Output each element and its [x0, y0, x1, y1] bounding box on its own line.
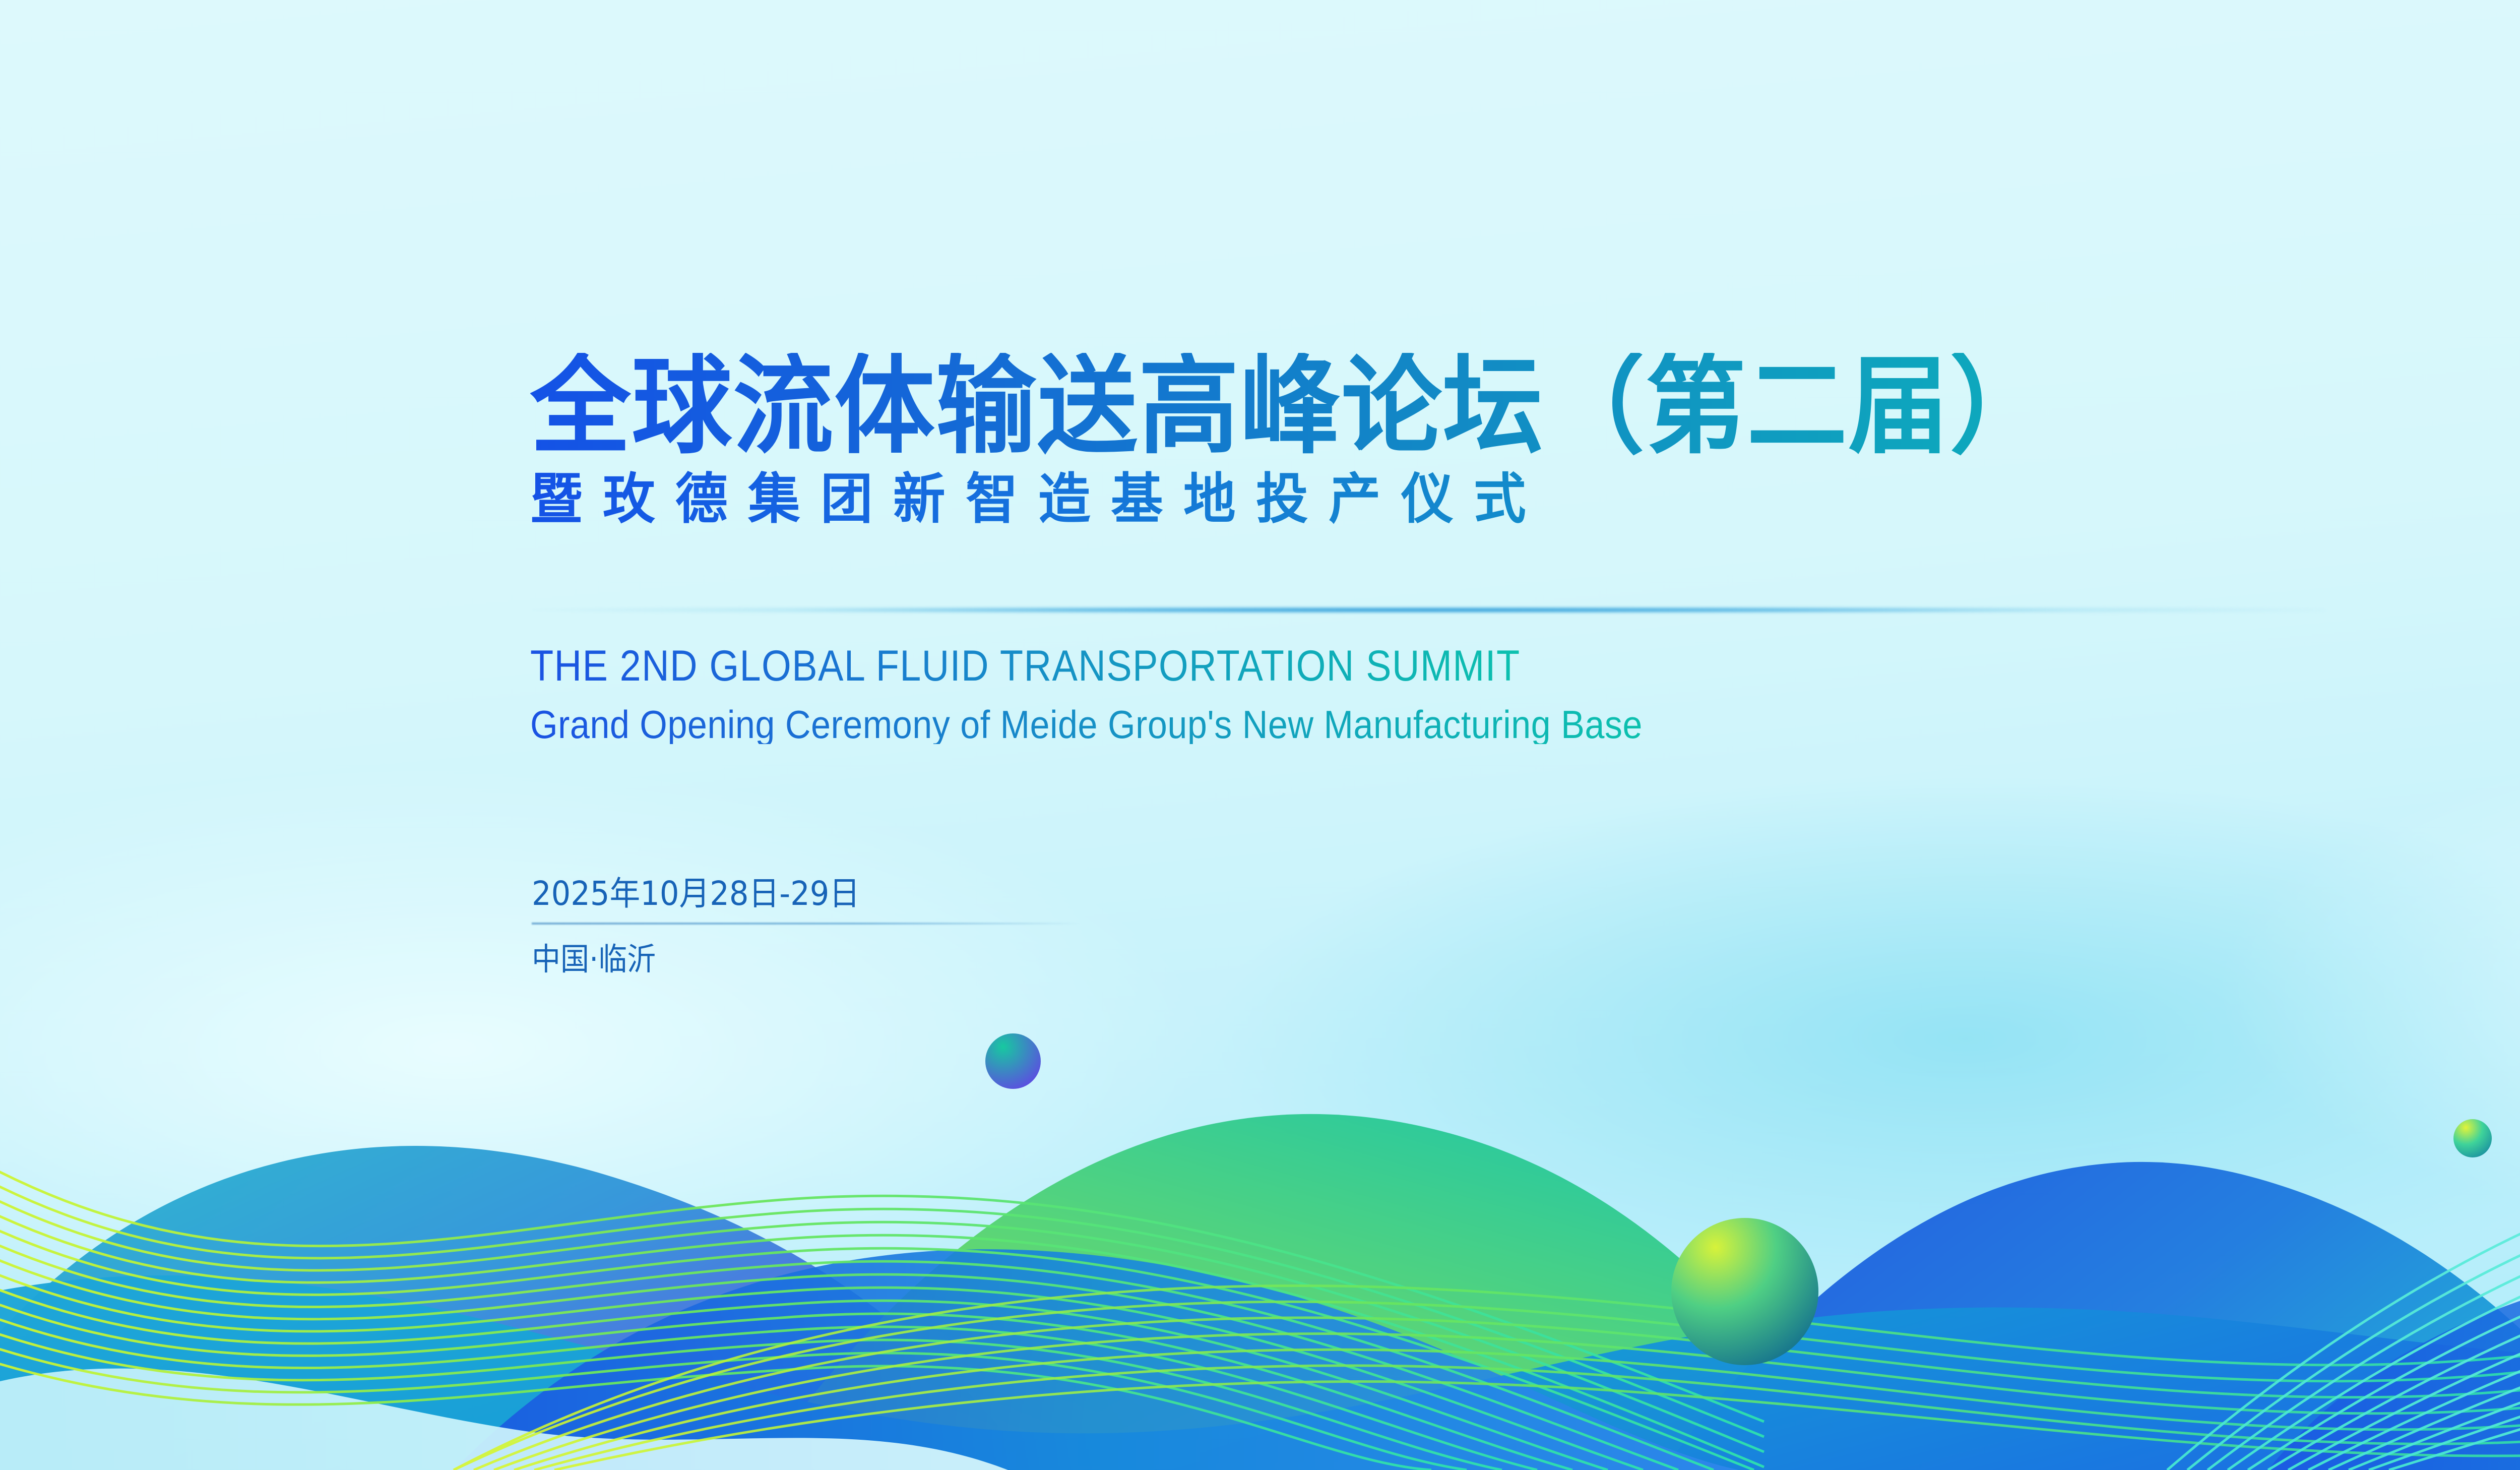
headline-block: 全球流体输送高峰论坛（第二届） 暨玫德集团新智造基地投产仪式: [530, 353, 2520, 528]
event-location: 中国·临沂: [532, 944, 656, 975]
poster-canvas: 全球流体输送高峰论坛（第二届） 暨玫德集团新智造基地投产仪式 THE 2ND G…: [0, 0, 2520, 1470]
sphere-large-green: [1671, 1218, 1818, 1365]
sphere-tiny-green: [2453, 1119, 2492, 1157]
title-english-main: THE 2ND GLOBAL FLUID TRANSPORTATION SUMM…: [530, 644, 1521, 688]
event-date: 2025年10月28日-29日: [532, 877, 860, 910]
meta-divider: [532, 923, 1081, 925]
sphere-small-purple: [985, 1033, 1041, 1089]
headline-divider: [532, 607, 2326, 612]
title-chinese-sub: 暨玫德集团新智造基地投产仪式: [530, 471, 2520, 528]
title-english-sub: Grand Opening Ceremony of Meide Group's …: [530, 705, 1643, 744]
title-chinese-main: 全球流体输送高峰论坛（第二届）: [530, 353, 2520, 460]
